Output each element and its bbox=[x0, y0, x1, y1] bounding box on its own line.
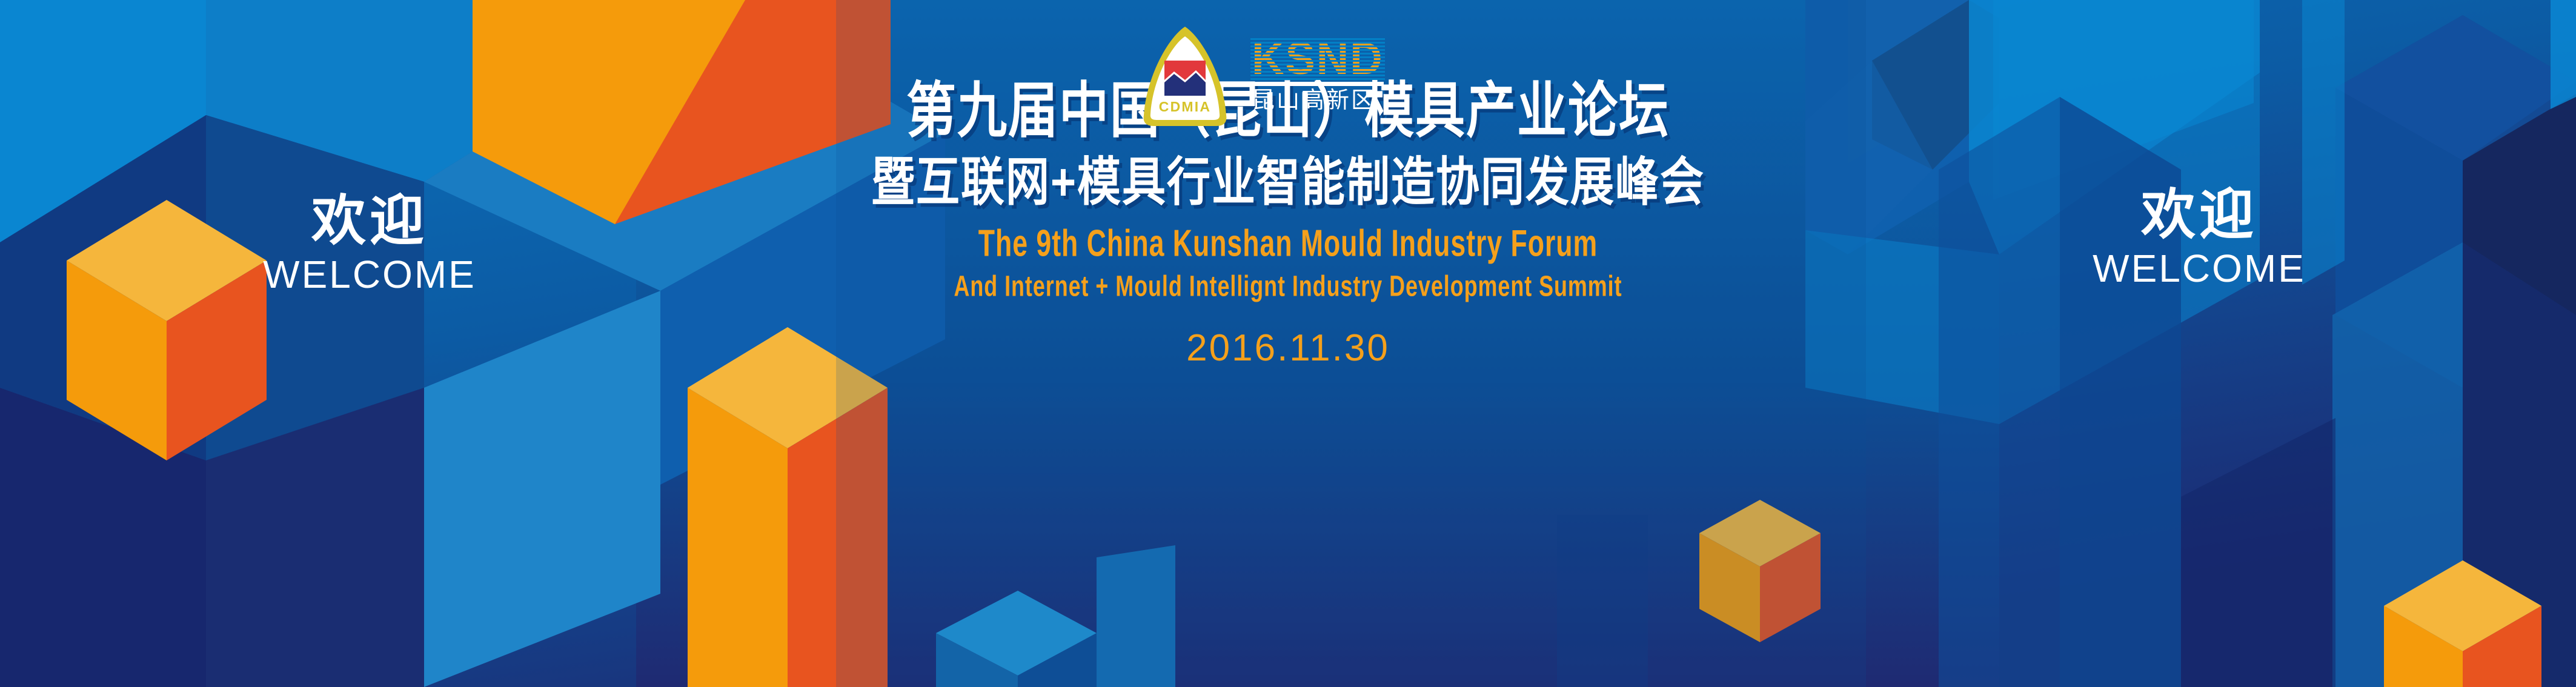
logo-lockup: CDMIA KSND 昆山高新区 bbox=[1139, 24, 1384, 128]
conference-banner: CDMIA KSND 昆山高新区 第九届中国（昆山）模具产业论坛 暨互联网+模具… bbox=[0, 0, 2576, 687]
ksnd-acronym: KSND bbox=[1252, 39, 1384, 79]
cdmia-shield-logo: CDMIA bbox=[1139, 24, 1231, 128]
ksnd-chinese-name: 昆山高新区 bbox=[1252, 88, 1376, 114]
svg-text:CDMIA: CDMIA bbox=[1159, 99, 1211, 114]
ksnd-logo: KSND 昆山高新区 bbox=[1252, 39, 1384, 114]
